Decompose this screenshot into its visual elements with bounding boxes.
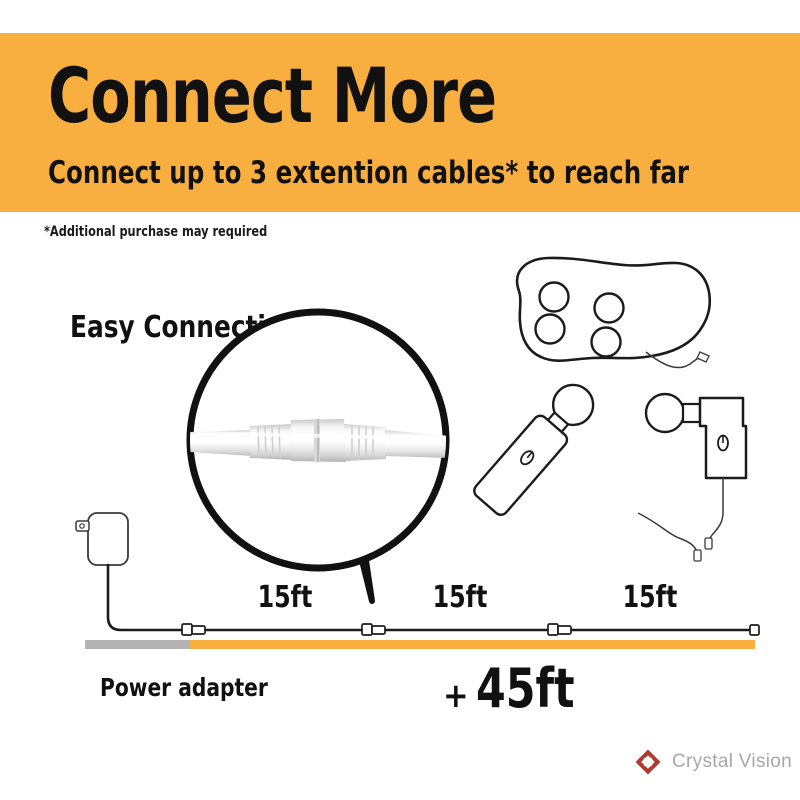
measurement-bar <box>85 640 755 649</box>
cable-connector-3 <box>548 624 571 635</box>
segment-label-2: 15ft <box>416 583 504 613</box>
pad-node-1 <box>540 283 569 312</box>
total-length: + 45ft <box>443 662 588 716</box>
bar-segment-extensions <box>190 640 755 649</box>
wand-cable-plug <box>694 550 701 561</box>
brand-logo: Crystal Vision <box>634 748 792 776</box>
cable-end-tip <box>750 625 759 635</box>
total-value: 45ft <box>476 662 575 716</box>
device-massage-gun <box>646 394 746 549</box>
pad-node-3 <box>595 294 624 323</box>
infographic-canvas: Connect More Connect up to 3 extention c… <box>0 0 800 800</box>
callout-bubble <box>190 312 450 601</box>
brand-name: Crystal Vision <box>672 751 792 773</box>
cable-connector-2 <box>362 624 385 635</box>
power-adapter-label: Power adapter <box>100 675 268 700</box>
bar-segment-adapter <box>85 640 190 649</box>
pad-node-4 <box>592 328 621 357</box>
segment-label-3: 15ft <box>606 583 694 613</box>
pad-node-2 <box>536 315 565 344</box>
device-massage-pad <box>517 258 710 368</box>
crystal-vision-diamond-icon <box>634 748 662 776</box>
pad-cable-plug <box>697 352 709 362</box>
segment-label-1: 15ft <box>241 583 329 613</box>
total-prefix: + <box>443 679 469 713</box>
gun-cable-plug <box>705 538 712 549</box>
cable-connector-1 <box>182 624 205 635</box>
